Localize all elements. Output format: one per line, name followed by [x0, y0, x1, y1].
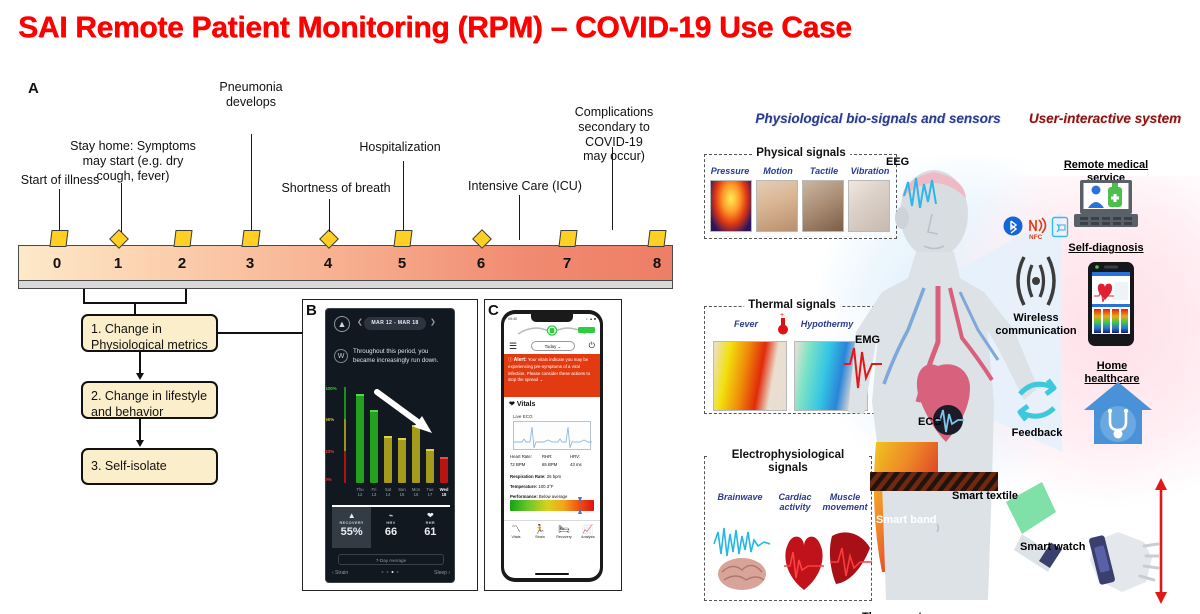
tab-recovery[interactable]: 🛏 Recovery — [552, 521, 576, 546]
brace-stem — [134, 302, 136, 314]
recovery-bar-chart: 100% 66% 33% 0% Thu 12 Fri 13 Sat 14 Sun… — [334, 387, 450, 497]
user-system-header: User-interactive system — [1010, 111, 1200, 126]
leader-hospitalization — [403, 161, 404, 230]
recovery-icon: 🛏 — [552, 524, 576, 534]
chart-bar-cap-sun — [398, 438, 406, 440]
timeline-label-pneumonia: Pneumonia develops — [219, 80, 282, 110]
metric-value-recovery: 55% — [332, 526, 371, 538]
vital-hrv-value: 43 ms — [570, 462, 582, 467]
leader-pneumonia — [251, 134, 252, 230]
dot-2[interactable] — [387, 571, 389, 573]
date-range-selector[interactable]: MAR 12 - MAR 18 — [364, 317, 426, 330]
chart-bar-tue[interactable] — [426, 449, 434, 483]
tab-vitals[interactable]: 〽 Vitals — [504, 521, 528, 546]
body-label-smart-band: Smart band — [876, 514, 937, 526]
electro-signal-cardiac: Cardiac activity — [778, 492, 811, 513]
rhr-icon: ❤ — [411, 511, 450, 520]
dot-4[interactable] — [397, 571, 399, 573]
panel-a-label: A — [28, 80, 39, 97]
chart-bar-sun[interactable] — [398, 438, 406, 483]
feedback-arrows-icon — [1012, 376, 1062, 424]
tab-analysis-label: Analysis — [576, 535, 600, 539]
timeline-marker-2[interactable] — [173, 230, 192, 247]
timeline-marker-3[interactable] — [241, 230, 260, 247]
timeline-marker-0[interactable] — [49, 230, 68, 247]
live-ecg-chart — [513, 421, 591, 450]
timeline-marker-5[interactable] — [393, 230, 412, 247]
timeline-tick-0: 0 — [53, 255, 61, 272]
timeline-tick-5: 5 — [398, 255, 406, 272]
leader-start — [59, 189, 60, 230]
flow-arrow-2 — [139, 419, 141, 441]
timeline-marker-7[interactable] — [558, 230, 577, 247]
body-label-smart-textile: Smart textile — [952, 490, 1018, 502]
period-summary-text: Throughout this period, you became incre… — [353, 348, 449, 366]
page-title-bar: SAI Remote Patient Monitoring (RPM) – CO… — [0, 0, 1200, 56]
flow-step-2[interactable]: 2. Change in lifestyle and behavior — [81, 381, 218, 419]
bottom-tab-bar: 〽 Vitals 🏃 Strain 🛏 Recovery 📈 Analysis — [504, 520, 600, 546]
electro-signal-brainwave: Brainwave — [717, 492, 762, 502]
dot-1[interactable] — [382, 571, 384, 573]
vital-performance-label: Performance: — [510, 494, 538, 499]
performance-marker-icon[interactable] — [578, 497, 582, 514]
tab-analysis[interactable]: 📈 Analysis — [576, 521, 600, 546]
laptop-icon — [1070, 178, 1142, 240]
axis-label-0: 0% — [325, 477, 343, 482]
timeline-label-shortness: Shortness of breath — [281, 181, 390, 196]
strain-icon: 🏃 — [528, 524, 552, 534]
flow-step-1[interactable]: 1. Change in Physiological metrics — [81, 314, 218, 352]
status-bar: 09:40 ◐ ▲ ■ — [504, 316, 600, 323]
chart-bar-wed[interactable] — [440, 457, 448, 483]
timeline-bar-shadow — [18, 281, 673, 289]
axis-label-100: 100% — [325, 386, 343, 391]
timeline-tick-6: 6 — [477, 255, 485, 272]
chart-bar-sat[interactable] — [384, 436, 392, 483]
timeline-tick-2: 2 — [178, 255, 186, 272]
vital-temperature-label: Temperature: — [510, 484, 537, 489]
alert-icon: ⓘ — [508, 357, 512, 362]
node-label-wireless: Wireless communication — [995, 312, 1076, 338]
chart-daylabel-wed: Wed 18 — [436, 487, 452, 498]
physical-signal-pressure: Pressure — [711, 166, 750, 176]
chart-bar-cap-tue — [426, 449, 434, 451]
panel-b-label: B — [306, 302, 317, 319]
chart-bar-thu[interactable] — [356, 394, 364, 483]
avatar: W — [334, 349, 348, 363]
leader-shortness — [329, 199, 330, 232]
recovery-icon: ▲ — [332, 511, 371, 520]
timeline-tick-3: 3 — [246, 255, 254, 272]
brace-right — [185, 289, 187, 303]
vital-rhr-label: RHR: — [542, 454, 553, 459]
timeline-tick-8: 8 — [653, 255, 661, 272]
metric-card-hrv[interactable]: ⌁ HRV 66 — [371, 507, 410, 548]
physical-signal-motion: Motion — [763, 166, 793, 176]
body-label-smart-watch: Smart watch — [1020, 541, 1085, 553]
fever-thermometer-icon: + — [776, 311, 790, 337]
physical-signals-title: Physical signals — [752, 147, 850, 160]
metric-value-rhr: 61 — [411, 526, 450, 538]
axis-label-33: 33% — [325, 449, 343, 454]
flow-arrowhead-2 — [136, 440, 144, 447]
chart-bar-cap-wed — [440, 457, 448, 459]
alert-title: Alert: — [514, 357, 527, 363]
vital-performance-value: Below average — [539, 494, 567, 499]
footer-strain-link[interactable]: ‹ Strain — [332, 570, 348, 576]
timeline-marker-8[interactable] — [647, 230, 666, 247]
motion-thumbnail — [756, 180, 798, 232]
tactile-thumbnail — [802, 180, 844, 232]
node-label-self-diagnosis: Self-diagnosis — [1068, 242, 1143, 255]
collapse-chevron-icon[interactable]: ▲ — [334, 316, 350, 332]
app-navbar: ☰ Today ⌄ ⏻ — [504, 339, 600, 353]
connector-to-panel-b — [218, 332, 304, 334]
metric-card-rhr[interactable]: ❤ RHR 61 — [411, 507, 450, 548]
smartphone-icon — [1086, 260, 1138, 348]
flow-step-3[interactable]: 3. Self-isolate — [81, 448, 218, 485]
panel-c-screen: 09:40 ◐ ▲ ■ ☰ Today ⌄ ⏻ ⓘ Alert: Your vi… — [504, 314, 600, 578]
vital-respiration-value: 26 bpm — [547, 474, 561, 479]
home-healthcare-icon — [1082, 378, 1154, 448]
dot-3[interactable] — [392, 571, 394, 573]
next-week-icon[interactable]: ❯ — [430, 318, 436, 326]
wireless-waves-icon — [1008, 251, 1064, 315]
power-icon[interactable]: ⏻ — [589, 341, 595, 351]
seven-day-average-bar[interactable]: 7-Day Average — [338, 554, 444, 565]
status-signal-icons: ◐ ▲ ■ — [586, 317, 596, 321]
vitals-icon: 〽 — [504, 524, 528, 534]
thermal-signal-fever: Fever — [734, 319, 758, 329]
node-label-feedback: Feedback — [1012, 427, 1063, 440]
hand-graphic — [1088, 516, 1160, 611]
vitals-header-label: Vitals — [517, 401, 536, 408]
metric-card-recovery[interactable]: ▲ RECOVERY 55% — [332, 507, 371, 548]
physical-signal-tactile: Tactile — [810, 166, 838, 176]
tab-vitals-label: Vitals — [504, 535, 528, 539]
svg-text:+: + — [780, 312, 784, 319]
heart-icon: ❤ — [509, 401, 515, 408]
panel-c-label: C — [488, 302, 499, 319]
page-title: SAI Remote Patient Monitoring (RPM) – CO… — [18, 11, 852, 45]
bio-signals-header: Physiological bio-signals and sensors — [738, 111, 1018, 126]
metric-value-hrv: 66 — [371, 526, 410, 538]
tab-recovery-label: Recovery — [552, 535, 576, 539]
home-indicator — [535, 573, 569, 575]
timeline-tick-4: 4 — [324, 255, 332, 272]
leader-stay-home — [121, 183, 122, 232]
page-indicator-dots — [382, 571, 399, 573]
analysis-icon: 📈 — [576, 524, 600, 534]
fever-thermal-image — [713, 341, 787, 411]
vitals-section-header: ❤ Vitals — [509, 400, 535, 408]
vital-temperature-value: 100.3°F — [538, 484, 553, 489]
flow-arrowhead-1 — [136, 373, 144, 380]
right-diagram-section: Physiological bio-signals and sensors Us… — [690, 56, 1200, 614]
metric-label-rhr: RHR — [411, 521, 450, 525]
vital-hrv-label: HRV: — [570, 454, 580, 459]
vital-heart-rate-label: Heart Rate: — [510, 454, 532, 459]
nfc-icon: NFC — [1027, 216, 1049, 240]
trend-arrow-icon — [374, 389, 436, 437]
timeline-label-stay-home: Stay home: Symptoms may start (e.g. dry … — [70, 139, 196, 183]
vital-respiration-label: Respiration Rate: — [510, 474, 546, 479]
panel-b-header: ▲ ❮ MAR 12 - MAR 18 ❯ — [326, 313, 455, 337]
tab-strain[interactable]: 🏃 Strain — [528, 521, 552, 546]
live-ecg-label: Live ECG — [513, 414, 533, 419]
hrv-icon: ⌁ — [371, 511, 410, 520]
body-label-ecg: ECG — [918, 416, 942, 428]
body-label-emg: EMG — [855, 334, 880, 346]
chart-y-axis — [344, 387, 346, 483]
panel-b-metrics: ▲ RECOVERY 55% ⌁ HRV 66 ❤ RHR 61 — [332, 505, 450, 548]
vital-rhr-value: 65 BPM — [542, 462, 557, 467]
hamburger-menu-icon[interactable]: ☰ — [509, 341, 517, 352]
timeline-tick-7: 7 — [563, 255, 571, 272]
battery-indicator — [578, 327, 595, 333]
today-selector[interactable]: Today ⌄ — [531, 341, 575, 351]
chart-bar-cap-thu — [356, 394, 364, 396]
flow-arrow-1 — [139, 352, 141, 374]
timeline-tick-1: 1 — [114, 255, 122, 272]
prev-week-icon[interactable]: ❮ — [357, 318, 363, 326]
vital-heart-rate-value: 72 BPM — [510, 462, 525, 467]
timeline-label-complications: Complications secondary to COVID-19 may … — [575, 105, 654, 164]
timeline-label-hospitalization: Hospitalization — [359, 140, 440, 155]
panel-c-phone: 09:40 ◐ ▲ ■ ☰ Today ⌄ ⏻ ⓘ Alert: Your vi… — [501, 310, 603, 582]
footer-sleep-link[interactable]: Sleep › — [434, 570, 450, 576]
alert-banner[interactable]: ⓘ Alert: Your vitals indicate you may be… — [504, 354, 600, 397]
brace-left — [83, 289, 85, 303]
timeline-label-icu: Intensive Care (ICU) — [468, 179, 582, 194]
metric-label-recovery: RECOVERY — [332, 521, 371, 525]
panel-b-app-screen: ▲ ❮ MAR 12 - MAR 18 ❯ W Throughout this … — [325, 308, 455, 583]
metric-label-hrv: HRV — [371, 521, 410, 525]
body-label-eeg: EEG — [886, 156, 909, 168]
svg-text:NFC: NFC — [1029, 234, 1043, 240]
status-time: 09:40 — [508, 317, 517, 321]
cardiac-activity-icon — [778, 522, 830, 594]
thermal-signals-title: Thermal signals — [744, 299, 840, 312]
tab-strain-label: Strain — [528, 535, 552, 539]
bluetooth-icon — [1003, 216, 1023, 236]
pressure-thumbnail — [710, 180, 752, 232]
leader-icu — [519, 195, 520, 240]
axis-label-66: 66% — [325, 417, 343, 422]
brainwave-icon — [712, 522, 772, 592]
